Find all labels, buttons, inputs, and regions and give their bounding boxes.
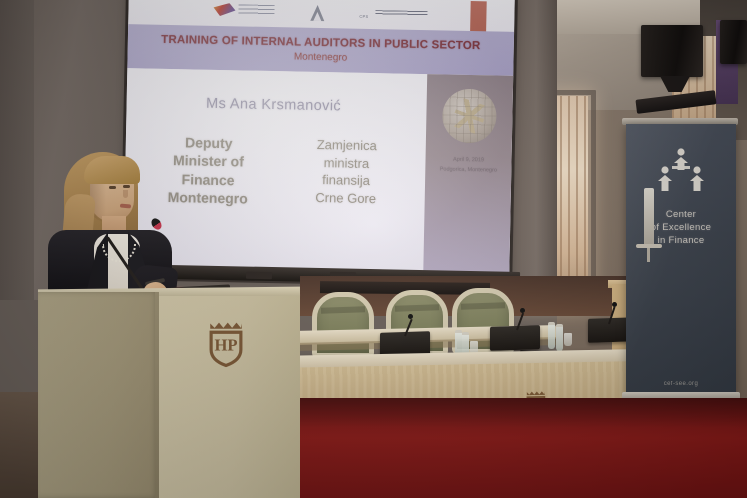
- eye-left: [109, 186, 116, 189]
- projection-screen: CPS TRAINING OF INTERNAL AUDITORS IN PUB…: [123, 0, 515, 280]
- slide-side-panel: April 9, 2019 Podgorica, Montenegro: [423, 74, 513, 280]
- water-glass-2: [564, 333, 572, 346]
- slide-role-montenegrin: Zamjenica ministra finansija Crne Gore: [277, 135, 416, 212]
- mouth: [120, 204, 131, 209]
- water-bottle-3: [548, 322, 555, 349]
- eu-partner-logo-icon: [213, 2, 275, 19]
- banner-line-1: Center: [626, 208, 736, 221]
- slide-title-band: TRAINING OF INTERNAL AUDITORS IN PUBLIC …: [127, 24, 514, 76]
- role-me-line-4: Crne Gore: [277, 188, 415, 208]
- svg-text:HP: HP: [214, 336, 237, 355]
- cps-logo-icon: CPS: [359, 6, 429, 21]
- screen-clip-left: [246, 272, 272, 280]
- slide-speaker-name: Ms Ana Krsmanović: [126, 94, 420, 116]
- slide-body: Ms Ana Krsmanović Deputy Minister of Fin…: [123, 68, 513, 280]
- desk-mic-head-2: [520, 308, 525, 313]
- nose: [123, 190, 128, 198]
- slide-subtitle: Montenegro: [294, 51, 348, 63]
- ceiling-speaker-left: [641, 25, 703, 77]
- water-bottle-4: [556, 324, 563, 351]
- conference-photo: CPS TRAINING OF INTERNAL AUDITORS IN PUB…: [0, 0, 747, 498]
- slide-place: Podgorica, Montenegro: [431, 165, 505, 177]
- podium-crest-icon: HP: [205, 314, 247, 368]
- banner-line-2: of Excellence: [626, 221, 736, 234]
- banner-stand-post: [644, 188, 654, 246]
- a-logo-icon: [309, 3, 325, 21]
- eye-right: [123, 185, 130, 188]
- banner-url: cef-see.org: [626, 381, 736, 387]
- desk-mic-head-3: [612, 302, 617, 307]
- slide-event-meta: April 9, 2019 Podgorica, Montenegro: [431, 154, 505, 176]
- desk-mic-head-1: [408, 314, 413, 319]
- banner-stand-pole: [647, 246, 650, 262]
- globe-emblem-icon: [442, 88, 497, 143]
- ceiling-speaker-right: [720, 20, 747, 64]
- podium-left-panel: [38, 292, 158, 498]
- slide-role-columns: Deputy Minister of Finance Montenegro Za…: [139, 132, 416, 211]
- cef-rollup-banner: Center of Excellence in Finance cef-see.…: [626, 124, 736, 396]
- banner-organization-name: Center of Excellence in Finance: [626, 208, 736, 247]
- podium-center-edge: [155, 292, 159, 498]
- banner-stand-foot: [636, 244, 662, 248]
- slide-title: TRAINING OF INTERNAL AUDITORS IN PUBLIC …: [161, 34, 480, 52]
- cps-logo-label: CPS: [359, 14, 368, 19]
- three-people-logo-icon: [650, 146, 712, 198]
- hair-fringe: [84, 156, 140, 184]
